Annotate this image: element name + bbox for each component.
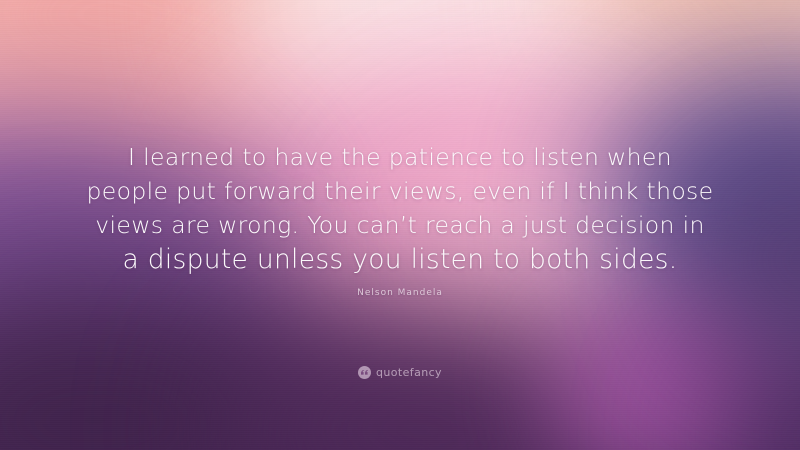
- quotefancy-brand-label: quotefancy: [376, 366, 442, 379]
- quote-line-1: I learned to have the patience to listen…: [0, 140, 800, 174]
- wallpaper-canvas: I learned to have the patience to listen…: [0, 0, 800, 450]
- quote-line-2: people put forward their views, even if …: [0, 174, 800, 208]
- quote-line-4: a dispute unless you listen to both side…: [0, 242, 800, 278]
- quote-author: Nelson Mandela: [0, 288, 800, 298]
- quote-text-block: I learned to have the patience to listen…: [0, 140, 800, 278]
- quote-mark-icon: [358, 366, 371, 379]
- quote-line-3: views are wrong. You can’t reach a just …: [0, 208, 800, 242]
- wallpaper-content: I learned to have the patience to listen…: [0, 0, 800, 450]
- quotefancy-watermark[interactable]: quotefancy: [0, 366, 800, 379]
